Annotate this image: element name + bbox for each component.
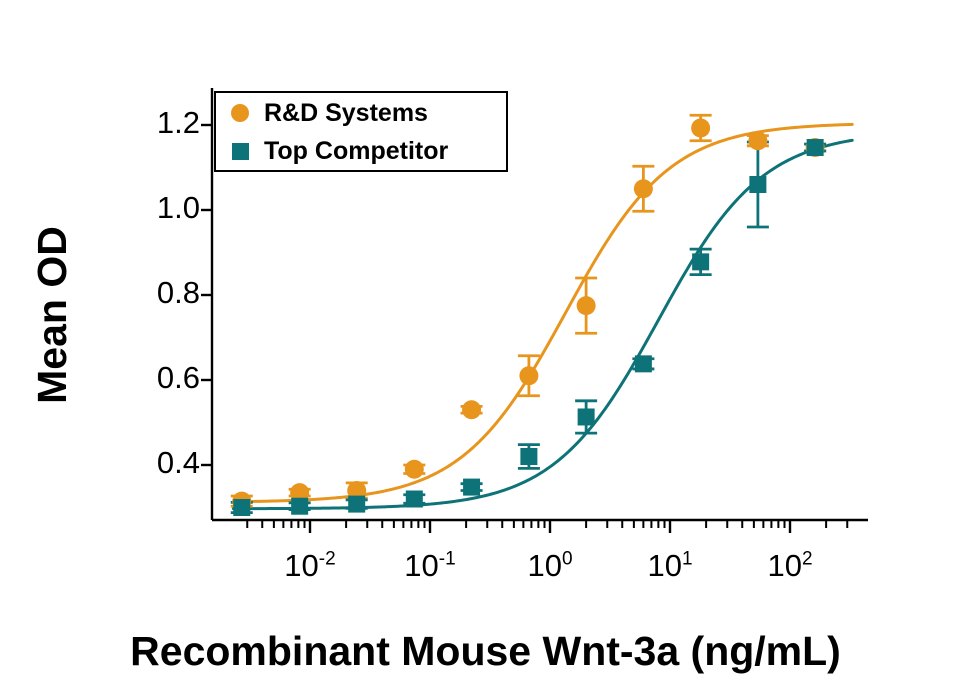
x-tick-exponent: -1 bbox=[439, 549, 456, 570]
y-tick-label: 0.6 bbox=[96, 362, 200, 393]
x-tick-label: 101 bbox=[610, 550, 730, 581]
x-tick-exponent: 0 bbox=[562, 549, 573, 570]
x-axis-title: Recombinant Mouse Wnt-3a (ng/mL) bbox=[0, 622, 971, 680]
x-tick-mantissa: 10 bbox=[647, 548, 681, 583]
y-tick-label: 1.0 bbox=[96, 192, 200, 223]
y-tick-label: 0.8 bbox=[96, 277, 200, 308]
x-tick-exponent: 1 bbox=[682, 549, 693, 570]
x-tick-label: 100 bbox=[490, 550, 610, 581]
x-tick-exponent: 2 bbox=[802, 549, 813, 570]
legend-item-rnd-systems: R&D Systems bbox=[216, 96, 510, 130]
x-tick-mantissa: 10 bbox=[527, 548, 561, 583]
square-marker-icon bbox=[216, 143, 264, 160]
chart-figure: Mean OD Recombinant Mouse Wnt-3a (ng/mL)… bbox=[0, 0, 971, 687]
circle-marker-icon bbox=[216, 104, 264, 122]
y-tick-label: 0.4 bbox=[96, 447, 200, 478]
x-tick-label: 102 bbox=[730, 550, 850, 581]
x-tick-mantissa: 10 bbox=[284, 548, 318, 583]
legend-label: Top Competitor bbox=[264, 137, 448, 166]
y-tick-label: 1.2 bbox=[96, 107, 200, 138]
legend-item-top-competitor: Top Competitor bbox=[216, 134, 510, 168]
x-tick-label: 10-1 bbox=[370, 550, 490, 581]
x-tick-exponent: -2 bbox=[319, 549, 336, 570]
legend-label: R&D Systems bbox=[264, 99, 428, 128]
x-tick-mantissa: 10 bbox=[767, 548, 801, 583]
x-tick-label: 10-2 bbox=[250, 550, 370, 581]
x-tick-mantissa: 10 bbox=[404, 548, 438, 583]
y-axis-title: Mean OD bbox=[27, 175, 77, 455]
chart-legend: R&D Systems Top Competitor bbox=[214, 91, 508, 172]
